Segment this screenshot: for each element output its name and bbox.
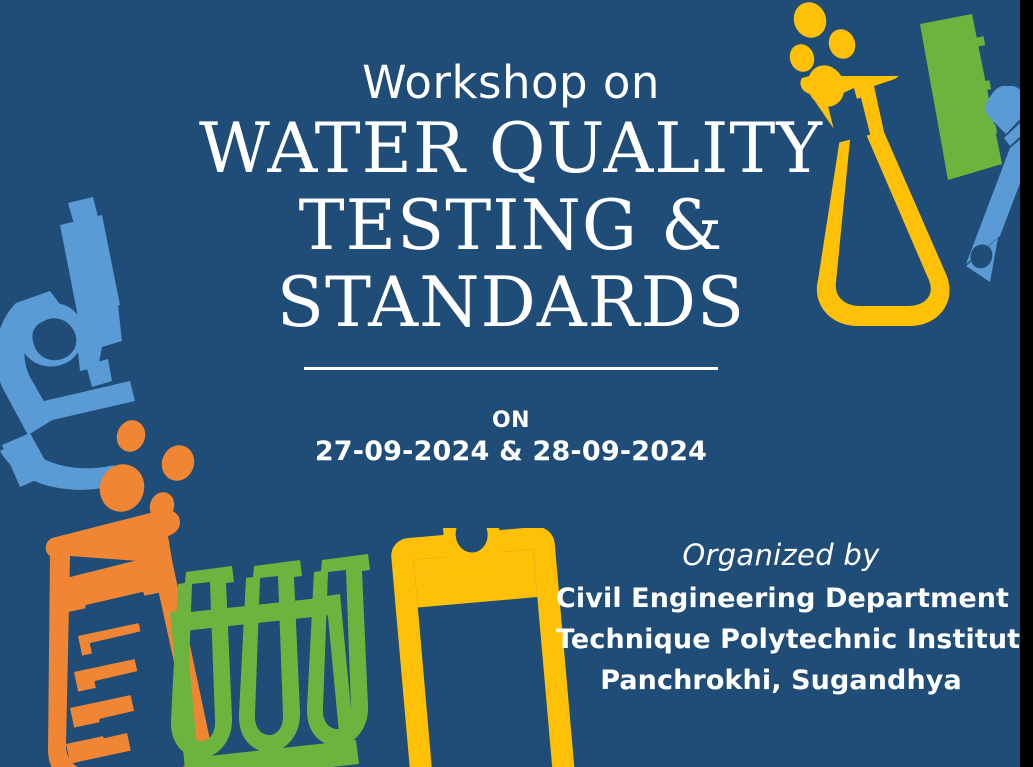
title-divider <box>304 367 718 370</box>
workshop-poster: Workshop on WATER QUALITY TESTING & STAN… <box>0 0 1033 767</box>
organizer-block: Organized by Civil Engineering Departmen… <box>556 532 1006 701</box>
title-line-1: WATER QUALITY <box>150 111 872 188</box>
title-line-2: TESTING & <box>150 188 872 265</box>
organizer-line-1: Civil Engineering Department <box>556 578 1006 619</box>
organizer-line-3: Panchrokhi, Sugandhya <box>556 660 1006 701</box>
poster-heading: Workshop on WATER QUALITY TESTING & STAN… <box>150 60 872 342</box>
workshop-dates: 27-09-2024 & 28-09-2024 <box>150 434 872 470</box>
on-label: ON <box>150 408 872 434</box>
organizer-line-2: Technique Polytechnic Institute <box>556 619 1006 660</box>
poster-text-layer: Workshop on WATER QUALITY TESTING & STAN… <box>0 0 1020 767</box>
title-line-3: STANDARDS <box>150 265 872 342</box>
workshop-kicker: Workshop on <box>150 60 872 105</box>
right-edge-strip <box>1020 0 1033 767</box>
poster-canvas: Workshop on WATER QUALITY TESTING & STAN… <box>0 0 1020 767</box>
organized-by-label: Organized by <box>556 532 1006 578</box>
schedule-block: ON 27-09-2024 & 28-09-2024 <box>150 408 872 470</box>
